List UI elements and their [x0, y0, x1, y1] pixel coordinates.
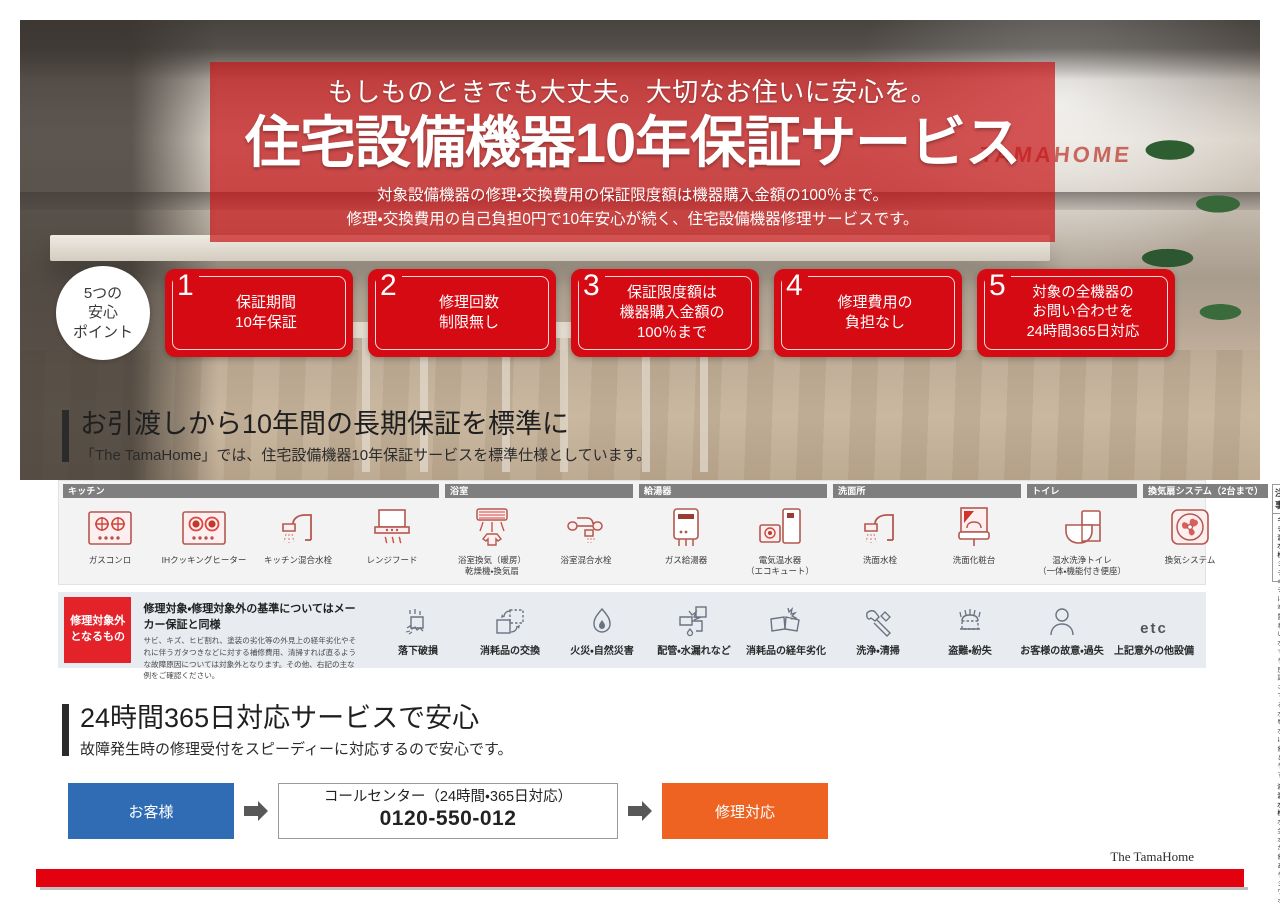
call-center-phone[interactable]: 0120-550-012: [380, 807, 517, 831]
point-number-5: 5: [985, 269, 1011, 303]
hero-subtitle-line2: 修理・交換費用の自己負担0円で10年安心が続く、住宅設備機器修理サービスです。: [346, 208, 918, 232]
notes-body: キッチン混合水栓：システムキッチンに標準設置されている水栓であり、別途設置されて…: [1273, 514, 1280, 905]
exclusions-title: 修理対象・修理対象外の基準についてはメーカー保証と同様: [143, 600, 360, 632]
badge-line-2: 安心: [88, 303, 118, 322]
equipment-panel: キッチン ガスコンロ IHクッキングヒーター: [58, 480, 1206, 585]
flow-arrow-1: [234, 799, 278, 823]
consumable-replace-icon: [493, 603, 527, 637]
equipment-item-vanity-unit: 洗面化粧台: [927, 498, 1021, 584]
equipment-item-gas-water-heater: ガス給湯器: [639, 498, 733, 584]
equipment-label-kitchen-faucet: キッチン混合水栓: [264, 555, 332, 566]
point-card-2: 2 修理回数 制限無し: [368, 269, 556, 357]
equipment-label-bath-dryer: 浴室換気（暖房） 乾燥機・換気扇: [458, 555, 526, 577]
point-card-1: 1 保証期間 10年保証: [165, 269, 353, 357]
call-center-label: コールセンター（24時間・365日対応）: [324, 790, 572, 806]
electric-water-heater-icon: [757, 504, 803, 552]
service-heading-title: 24時間365日対応サービスで安心: [80, 702, 512, 735]
point-card-4: 4 修理費用の 負担なし: [774, 269, 962, 357]
badge-line-1: 5つの: [84, 284, 122, 303]
drop-damage-icon: [401, 603, 435, 637]
hero-title: 住宅設備機器10年保証サービス: [245, 113, 1020, 172]
equipment-item-bath-dryer: 浴室換気（暖房） 乾燥機・換気扇: [445, 498, 539, 584]
exclusions-icon-row: 落下破損 消耗品の交換 火災・自然災害 配管・水漏れなど: [372, 592, 1206, 668]
equipment-label-washbasin-faucet: 洗面水栓: [863, 555, 897, 566]
equipment-label-vanity-unit: 洗面化粧台: [953, 555, 996, 566]
equipment-column-bathroom: 浴室 浴室換気（暖房） 乾燥機・換気扇 浴室混合水栓: [445, 484, 633, 584]
service-heading-desc: 故障発生時の修理受付をスピーディーに対応するので安心です。: [80, 738, 512, 759]
ih-cooking-heater-icon: [181, 504, 227, 552]
fire-disaster-icon: [587, 603, 617, 637]
equipment-item-electric-water-heater: 電気温水器 （エコキュート）: [733, 498, 827, 584]
exclusion-item-pipe-leak: 配管・水漏れなど: [648, 603, 740, 657]
warranty-heading: お引渡しから10年間の長期保証を標準に 「The TamaHome」では、住宅設…: [62, 408, 651, 465]
warranty-heading-title: お引渡しから10年間の長期保証を標準に: [80, 408, 651, 441]
equipment-label-ih-heater: IHクッキングヒーター: [162, 555, 247, 566]
footer-bar-shadow: [40, 887, 1248, 890]
washbasin-faucet-icon: [857, 504, 903, 552]
gas-stove-icon: [87, 504, 133, 552]
point-text-5: 対象の全機器の お問い合わせを 24時間365日対応: [984, 276, 1168, 350]
equipment-item-bath-faucet: 浴室混合水栓: [539, 498, 633, 584]
bathroom-dryer-fan-icon: [469, 504, 515, 552]
equipment-column-water-heater: 給湯器 ガス給湯器 電気温水器 （エコキュート）: [639, 484, 827, 584]
flow-customer-box: お客様: [68, 783, 234, 839]
equipment-label-washlet: 温水洗浄トイレ （一体・機能付き便座）: [1038, 555, 1126, 577]
exclusions-tag: 修理対象外 となるもの: [64, 597, 131, 663]
theft-loss-icon: [954, 603, 986, 637]
exclusion-label-cleaning: 洗浄・清掃: [856, 642, 899, 657]
equipment-label-bath-faucet: 浴室混合水栓: [560, 555, 611, 566]
equipment-column-washroom: 洗面所 洗面水栓 洗面化粧台: [833, 484, 1021, 584]
exclusion-label-drop-damage: 落下破損: [398, 642, 438, 657]
consumable-aging-icon: [768, 603, 804, 637]
exclusion-item-cleaning: 洗浄・清掃: [832, 603, 924, 657]
equipment-item-washlet: 温水洗浄トイレ （一体・機能付き便座）: [1027, 498, 1137, 584]
notes-box: 注意事項 キッチン混合水栓：システムキッチンに標準設置されている水栓であり、別途…: [1272, 484, 1280, 582]
point-card-3: 3 保証限度額は 機器購入金額の 100％まで: [571, 269, 759, 357]
customer-fault-icon: [1048, 603, 1076, 637]
service-heading: 24時間365日対応サービスで安心 故障発生時の修理受付をスピーディーに対応する…: [62, 702, 512, 759]
footer-bar: [36, 869, 1244, 887]
service-flow: お客様 コールセンター（24時間・365日対応） 0120-550-012 修理…: [68, 783, 828, 839]
category-label-washroom: 洗面所: [833, 484, 1021, 498]
exclusions-tag-line1: 修理対象外: [70, 614, 125, 630]
badge-line-3: ポイント: [73, 323, 133, 342]
exclusions-text: 修理対象・修理対象外の基準についてはメーカー保証と同様 サビ、キズ、ヒビ割れ、塗…: [131, 592, 372, 668]
equipment-item-range-hood: レンジフード: [345, 498, 439, 584]
kitchen-mixing-faucet-icon: [275, 504, 321, 552]
equipment-column-toilet: トイレ 温水洗浄トイレ （一体・機能付き便座）: [1027, 484, 1137, 584]
equipment-label-range-hood: レンジフード: [366, 555, 417, 566]
page-root: TAMAHOME もしものときでも大丈夫。大切なお住いに安心を。 住宅設備機器1…: [0, 0, 1280, 905]
hero-banner: TAMAHOME もしものときでも大丈夫。大切なお住いに安心を。 住宅設備機器1…: [20, 20, 1260, 480]
exclusion-item-drop-damage: 落下破損: [372, 603, 464, 657]
exclusion-label-fire-disaster: 火災・自然災害: [570, 642, 633, 657]
equipment-label-electric-water-heater: 電気温水器 （エコキュート）: [746, 555, 814, 577]
category-label-ventilation: 換気扇システム（2台まで）: [1143, 484, 1268, 498]
bath-mixing-faucet-icon: [563, 504, 609, 552]
exclusion-label-consumable-aging: 消耗品の経年劣化: [746, 642, 826, 657]
hero-kicker: もしものときでも大丈夫。大切なお住いに安心を。: [328, 72, 938, 109]
flow-arrow-2: [618, 799, 662, 823]
equipment-label-gas-water-heater: ガス給湯器: [665, 555, 708, 566]
flow-call-center-box: コールセンター（24時間・365日対応） 0120-550-012: [278, 783, 618, 839]
exclusion-label-theft-loss: 盗難・紛失: [948, 642, 991, 657]
equipment-item-gas-stove: ガスコンロ: [63, 498, 157, 584]
warranty-heading-desc: 「The TamaHome」では、住宅設備機器10年保証サービスを標準仕様として…: [80, 444, 651, 465]
category-label-water-heater: 給湯器: [639, 484, 827, 498]
category-label-toilet: トイレ: [1027, 484, 1137, 498]
flow-repair-box: 修理対応: [662, 783, 828, 839]
exclusion-label-customer-fault: お客様の故意・過失: [1020, 642, 1103, 657]
equipment-item-washbasin-faucet: 洗面水栓: [833, 498, 927, 584]
five-points-badge: 5つの 安心 ポイント: [56, 266, 150, 360]
point-card-5: 5 対象の全機器の お問い合わせを 24時間365日対応: [977, 269, 1175, 357]
footer-brand: The TamaHome: [1110, 849, 1194, 865]
category-label-bathroom: 浴室: [445, 484, 633, 498]
gas-water-heater-icon: [664, 504, 708, 552]
exclusion-item-etc: etc 上記意外の他設備: [1108, 603, 1200, 657]
exclusions-panel: 修理対象外 となるもの 修理対象・修理対象外の基準についてはメーカー保証と同様 …: [58, 592, 1206, 668]
etc-text: etc: [1140, 620, 1168, 637]
exclusion-item-customer-fault: お客様の故意・過失: [1016, 603, 1108, 657]
equipment-column-ventilation: 換気扇システム（2台まで） 換気システム: [1143, 484, 1268, 584]
exclusion-label-consumable-replace: 消耗品の交換: [480, 642, 540, 657]
exclusion-label-etc: 上記意外の他設備: [1114, 642, 1194, 657]
cleaning-icon: [861, 603, 895, 637]
hero-subtitle-line1: 対象設備機器の修理・交換費用の保証限度額は機器購入金額の100％まで。: [377, 184, 888, 208]
point-number-2: 2: [376, 269, 402, 303]
five-points-row: 5つの 安心 ポイント 1 保証期間 10年保証 2 修理回数 制限無し 3 保…: [56, 258, 1206, 368]
ventilation-system-icon: [1169, 504, 1211, 552]
range-hood-icon: [369, 504, 415, 552]
equipment-column-kitchen: キッチン ガスコンロ IHクッキングヒーター: [63, 484, 439, 584]
pipe-leak-icon: [676, 603, 712, 637]
etc-icon: etc: [1140, 603, 1168, 637]
equipment-label-gas-stove: ガスコンロ: [89, 555, 132, 566]
equipment-item-ventilation-system: 換気システム: [1143, 498, 1237, 584]
equipment-label-ventilation-system: 換気システム: [1165, 555, 1216, 566]
vanity-unit-icon: [954, 504, 994, 552]
equipment-item-ih-heater: IHクッキングヒーター: [157, 498, 251, 584]
exclusion-label-pipe-leak: 配管・水漏れなど: [657, 642, 730, 657]
exclusion-item-theft-loss: 盗難・紛失: [924, 603, 1016, 657]
exclusion-item-consumable-replace: 消耗品の交換: [464, 603, 556, 657]
exclusion-item-fire-disaster: 火災・自然災害: [556, 603, 648, 657]
category-label-kitchen: キッチン: [63, 484, 439, 498]
washlet-toilet-icon: [1060, 504, 1104, 552]
exclusions-tag-line2: となるもの: [70, 630, 125, 646]
equipment-item-kitchen-faucet: キッチン混合水栓: [251, 498, 345, 584]
point-number-1: 1: [173, 269, 199, 303]
notes-title: 注意事項: [1273, 485, 1280, 514]
exclusion-item-consumable-aging: 消耗品の経年劣化: [740, 603, 832, 657]
point-number-3: 3: [579, 269, 605, 303]
hero-text-overlay: もしものときでも大丈夫。大切なお住いに安心を。 住宅設備機器10年保証サービス …: [210, 62, 1055, 242]
point-number-4: 4: [782, 269, 808, 303]
exclusions-description: サビ、キズ、ヒビ割れ、塗装の劣化等の外見上の経年劣化やそれに伴うガタつきなどに対…: [143, 635, 360, 682]
